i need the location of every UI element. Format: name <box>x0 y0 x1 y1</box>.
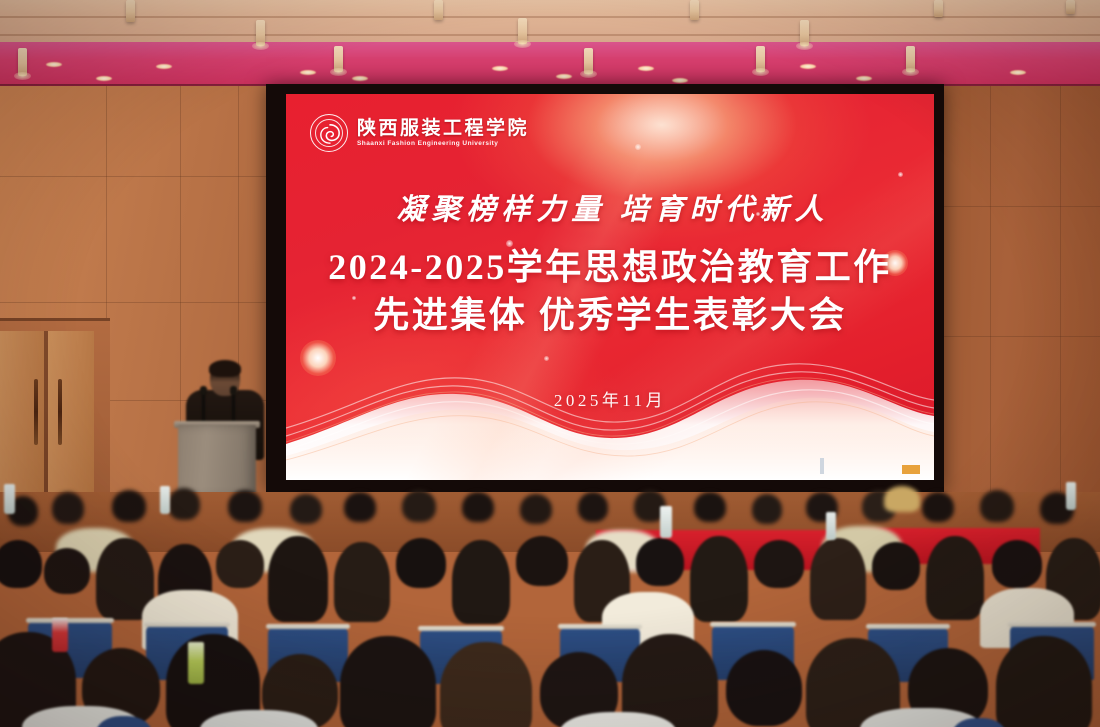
downlight-icon <box>96 76 112 81</box>
water-bottle <box>188 642 204 684</box>
downlight-icon <box>672 78 688 83</box>
auditorium-photo: 陕西服装工程学院 Shaanxi Fashion Engineering Uni… <box>0 0 1100 727</box>
microphone-head <box>230 386 237 395</box>
screen-title-block: 凝聚榜样力量 培育时代新人 2024-2025学年思想政治教育工作 先进集体 优… <box>286 186 934 340</box>
downlight-icon <box>492 66 508 71</box>
pendant-light-icon <box>334 46 343 72</box>
downlight-icon <box>1010 70 1026 75</box>
door-handle-icon[interactable] <box>34 379 38 445</box>
pendant-light-icon <box>906 46 915 72</box>
speaker-hair <box>209 360 241 377</box>
screen-title-line2: 先进集体 优秀学生表彰大会 <box>286 292 934 340</box>
pendant-light-icon <box>434 0 443 20</box>
water-bottle <box>4 484 15 514</box>
light-particle <box>544 356 549 361</box>
pendant-light-icon <box>126 0 135 22</box>
downlight-icon <box>856 76 872 81</box>
university-crest-icon <box>310 114 348 152</box>
university-name-en: Shaanxi Fashion Engineering University <box>357 141 529 148</box>
water-bottle <box>1066 482 1076 510</box>
water-bottle <box>160 486 170 514</box>
downlight-icon <box>46 62 62 67</box>
microphone-head <box>200 386 207 395</box>
pendant-light-icon <box>690 0 699 20</box>
pendant-light-icon <box>800 20 809 46</box>
downlight-icon <box>352 76 368 81</box>
pendant-light-icon <box>756 46 765 72</box>
door-handle-icon[interactable] <box>58 379 62 445</box>
water-bottle <box>826 512 836 540</box>
pendant-light-icon <box>256 20 265 46</box>
pendant-light-icon <box>518 18 527 44</box>
seated-audience <box>0 470 1100 727</box>
university-logo: 陕西服装工程学院 Shaanxi Fashion Engineering Uni… <box>310 114 529 152</box>
crest-swirl-icon <box>319 123 341 145</box>
pendant-light-icon <box>934 0 943 17</box>
downlight-icon <box>300 70 316 75</box>
wall-right-wood-panel <box>930 86 1100 516</box>
pendant-light-icon <box>18 48 27 76</box>
pendant-light-icon <box>584 48 593 74</box>
light-particle <box>898 172 903 177</box>
light-orb <box>300 340 336 376</box>
downlight-icon <box>556 74 572 79</box>
water-bottle <box>660 506 672 538</box>
university-name-cn: 陕西服装工程学院 <box>357 119 529 138</box>
screen-title-line1: 2024-2025学年思想政治教育工作 <box>286 244 934 292</box>
downlight-icon <box>638 66 654 71</box>
screen-subtitle: 凝聚榜样力量 培育时代新人 <box>286 186 934 228</box>
light-particle <box>635 144 641 150</box>
wave-ribbon-graphic <box>286 348 934 480</box>
downlight-icon <box>156 64 172 69</box>
downlight-icon <box>800 64 816 69</box>
water-bottle <box>52 618 68 652</box>
pendant-light-icon <box>1066 0 1075 14</box>
screen-date: 2025年11月 <box>286 386 934 411</box>
led-screen: 陕西服装工程学院 Shaanxi Fashion Engineering Uni… <box>286 94 934 480</box>
